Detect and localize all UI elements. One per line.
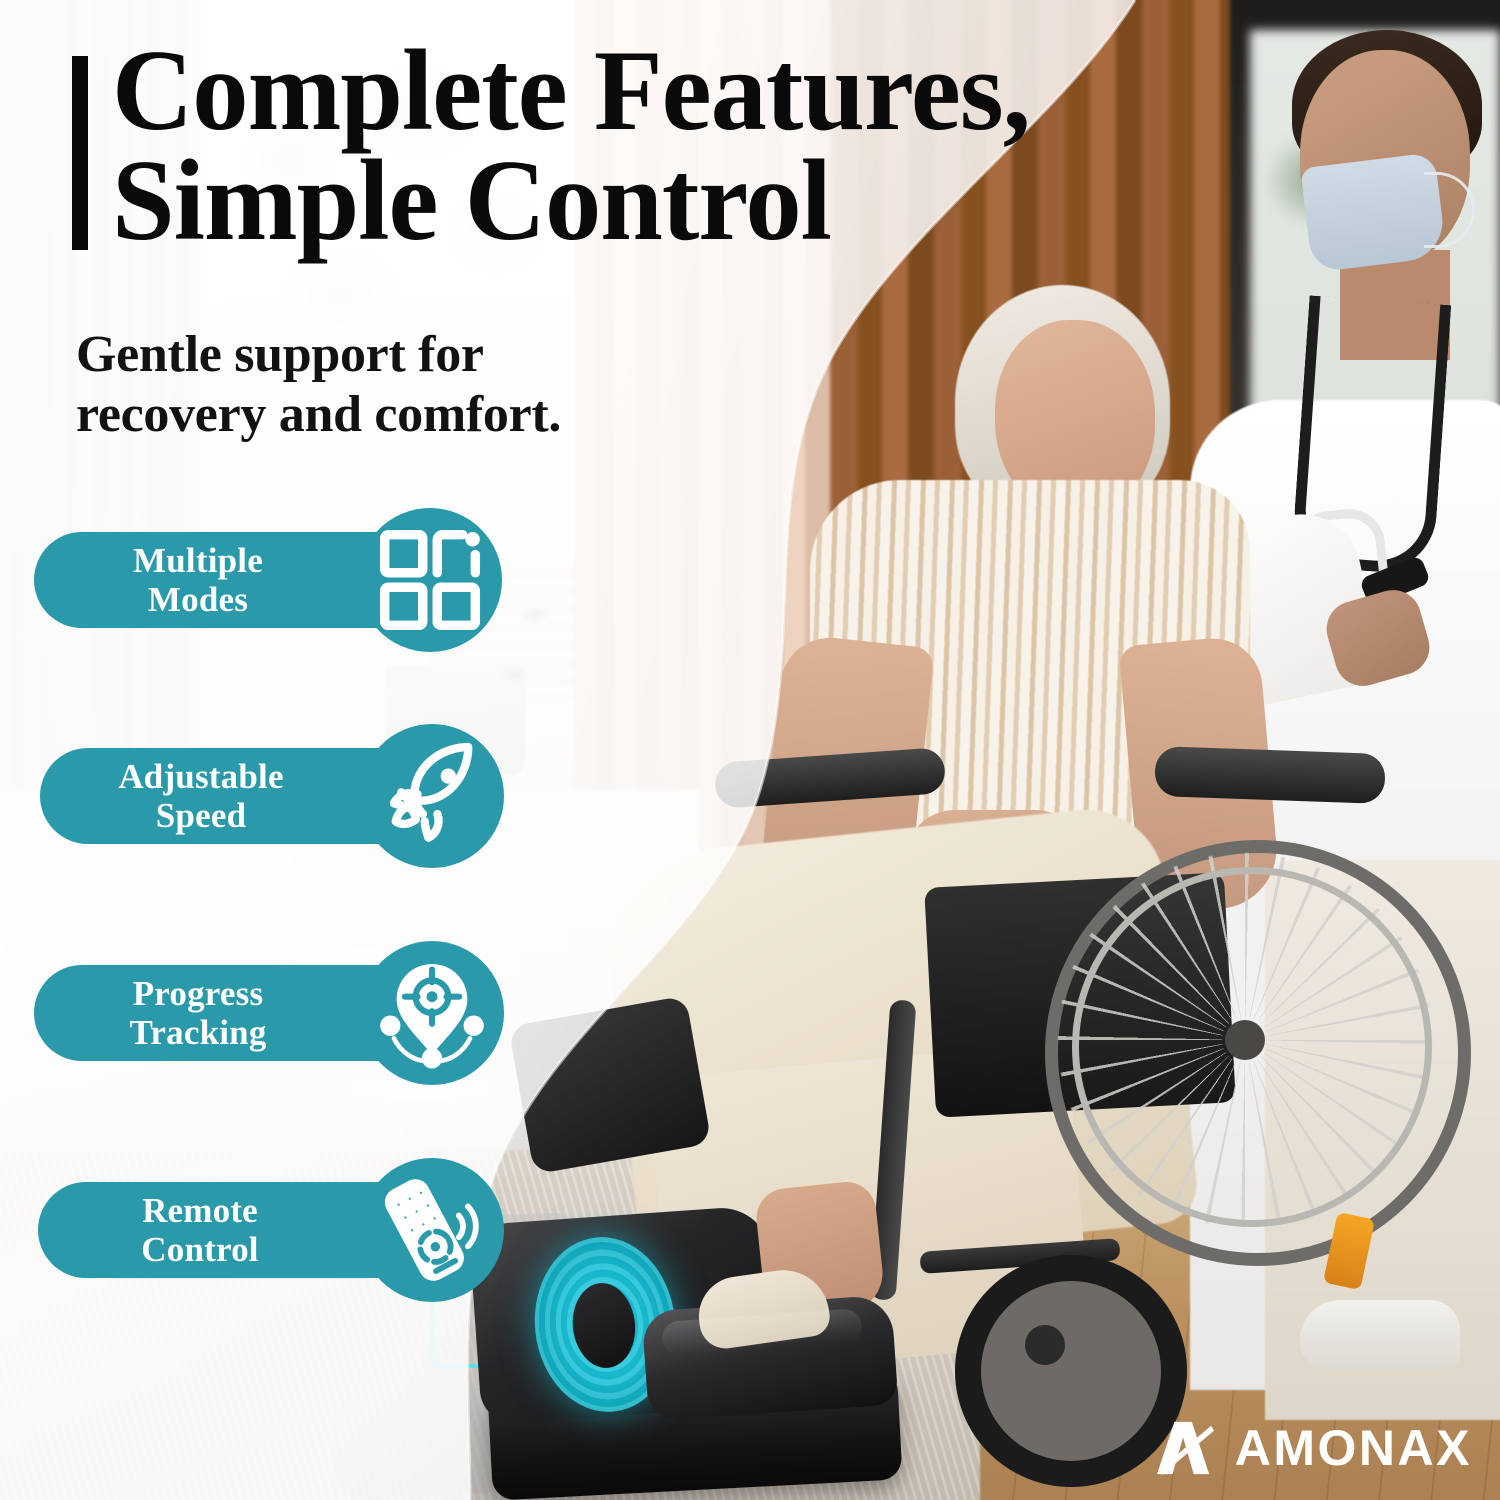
nurse-shoe [1300, 1300, 1460, 1370]
brand-name: AMONAX [1235, 1423, 1472, 1473]
brand-logo: AMONAX [1155, 1420, 1472, 1476]
feature-pill-multiple-modes[interactable]: Multiple Modes [34, 532, 468, 628]
grid-squares-icon [372, 522, 488, 638]
amonax-a-mark-icon [1155, 1420, 1217, 1476]
feature-label-line-2: Control [50, 1230, 350, 1269]
headline-line-1: Complete Features, [112, 27, 1030, 155]
feature-label-line-1: Remote [50, 1191, 350, 1230]
feature-label-line-1: Progress [46, 974, 350, 1013]
feature-label-progress-tracking: Progress Tracking [46, 974, 350, 1052]
subheading-line-2: recovery and comfort. [76, 386, 561, 443]
feature-pill-remote-control[interactable]: Remote Control [38, 1182, 478, 1278]
feature-label-line-2: Speed [52, 796, 350, 835]
feature-pill-progress-tracking[interactable]: Progress Tracking [34, 965, 474, 1061]
feature-label-multiple-modes: Multiple Modes [48, 541, 348, 619]
headline-accent-bar [72, 56, 88, 250]
remote-control-signal-icon [370, 1172, 486, 1288]
feature-label-line-1: Multiple [48, 541, 348, 580]
subheading-line-1: Gentle support for [76, 326, 484, 383]
location-target-pin-icon [374, 955, 490, 1071]
feature-label-line-2: Modes [48, 580, 348, 619]
rocket-icon [374, 738, 490, 854]
wheelchair-footplate [508, 996, 711, 1175]
leg-exerciser-device [430, 1195, 930, 1500]
wheelchair-caster-wheel [955, 1255, 1187, 1487]
subheading: Gentle support for recovery and comfort. [76, 325, 766, 446]
feature-pill-adjustable-speed[interactable]: Adjustable Speed [40, 748, 474, 844]
wheelchair-caster-hub [1025, 1325, 1065, 1365]
headline-line-2: Simple Control [112, 146, 1237, 256]
wheelchair-armrest-right [1154, 746, 1386, 804]
wheelchair-hub [1225, 1020, 1265, 1060]
feature-label-line-1: Adjustable [52, 757, 350, 796]
feature-label-remote-control: Remote Control [50, 1191, 350, 1269]
page-title: Complete Features, Simple Control [112, 36, 1237, 256]
infographic-canvas: Complete Features, Simple Control Gentle… [0, 0, 1500, 1500]
feature-label-line-2: Tracking [46, 1013, 350, 1052]
feature-label-adjustable-speed: Adjustable Speed [52, 757, 350, 835]
